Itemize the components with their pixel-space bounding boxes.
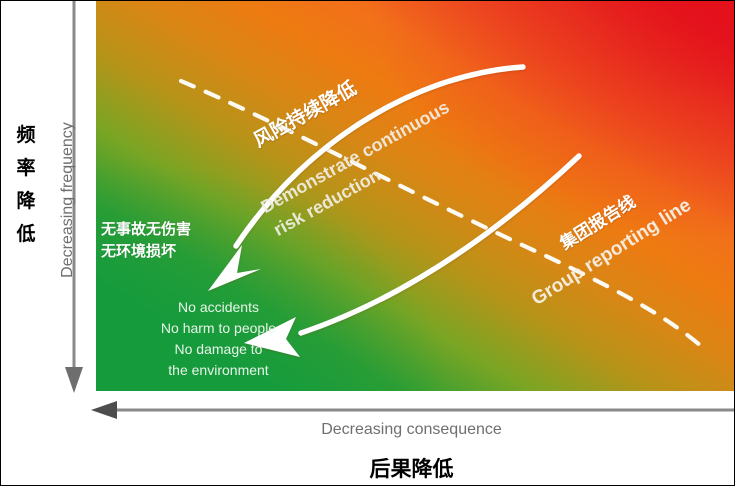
risk-matrix-diagram: 无事故无伤害 无环境损坏 No accidents No harm to peo… [0, 0, 735, 486]
target-zone-label-cn: 无事故无伤害 无环境损坏 [101, 219, 191, 263]
y-axis-label-en: Decreasing frequency [59, 100, 77, 300]
risk-matrix-plot-area: 无事故无伤害 无环境损坏 No accidents No harm to peo… [96, 1, 735, 391]
x-axis-label-cn: 后果降低 [89, 453, 734, 483]
risk-reduction-curve [208, 67, 523, 291]
x-axis-arrow [89, 399, 734, 421]
y-axis-label-cn: 频率降低 [13, 119, 39, 251]
x-axis-label-en: Decreasing consequence [89, 421, 734, 439]
target-zone-label-en: No accidents No harm to people No damage… [96, 297, 341, 381]
